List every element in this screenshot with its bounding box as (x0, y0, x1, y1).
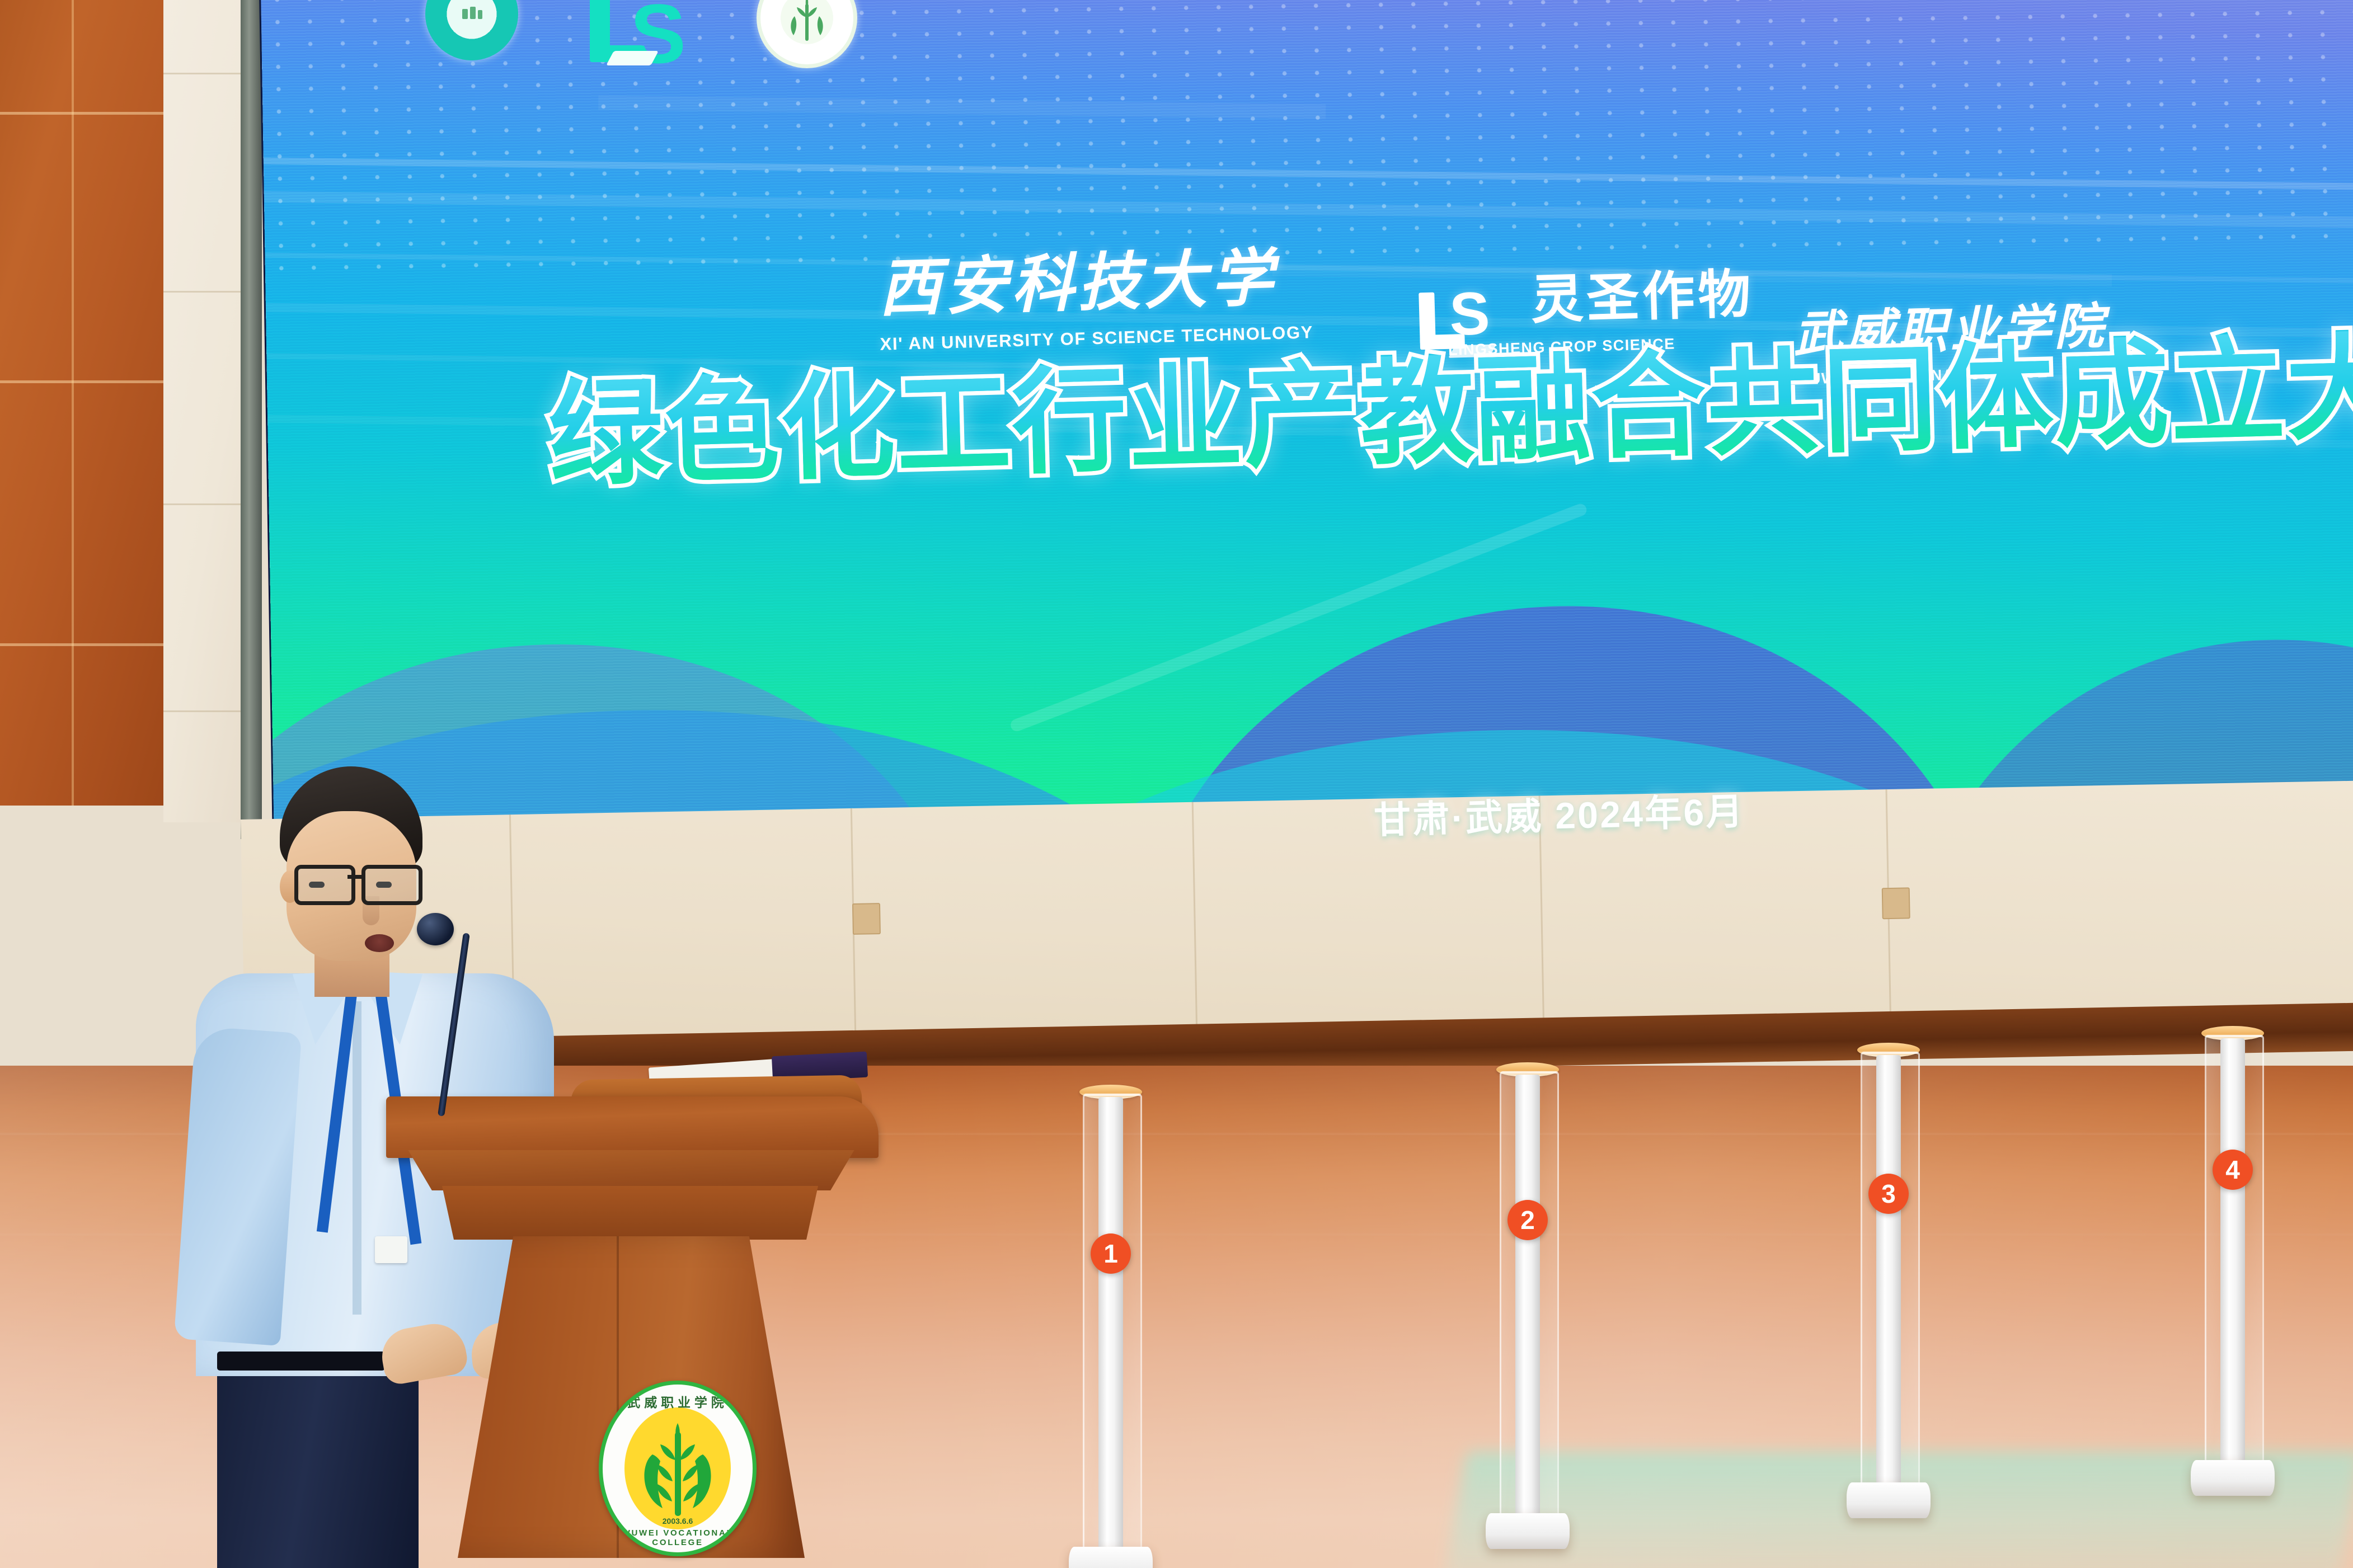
xust-logo-en: XI' AN UNIVERSITY OF SCIENCE TECHNOLOGY (880, 322, 1314, 355)
podium-emblem-cn: 武威职业学院 (603, 1392, 753, 1411)
xust-logo-cn: 西安科技大学 (877, 226, 1313, 329)
shirt-placket (353, 1001, 361, 1315)
lectern-podium: 武威职业学院 2003.6.6 WUWEI VOCATIONAL COLLEGE (386, 1096, 879, 1568)
eyeglasses-icon (294, 865, 423, 900)
podium-college-emblem: 武威职业学院 2003.6.6 WUWEI VOCATIONAL COLLEGE (599, 1381, 757, 1556)
podium-neck (434, 1186, 826, 1240)
podium-top (386, 1096, 879, 1158)
logo-xian-university-of-science-technology: 西安科技大学 XI' AN UNIVERSITY OF SCIENCE TECH… (877, 226, 1313, 355)
podium-emblem-en: WUWEI VOCATIONAL COLLEGE (603, 1528, 753, 1547)
podium-slab (394, 1150, 868, 1190)
wheat-and-figures-icon (636, 1415, 720, 1522)
event-subtitle-location-date: 甘肃·武威 2024年6月 (1373, 781, 1745, 844)
microphone-icon (417, 913, 454, 945)
conference-photo-scene: S 西安科技大学 XI' AN UNIVERSITY OF SCIENCE TE… (0, 0, 2353, 1568)
speaker-left-arm (174, 1026, 302, 1346)
lingsheng-logo-cn: 灵圣作物 (1530, 252, 1755, 334)
speaker-belt (217, 1352, 385, 1371)
speaker-mouth (365, 934, 394, 952)
